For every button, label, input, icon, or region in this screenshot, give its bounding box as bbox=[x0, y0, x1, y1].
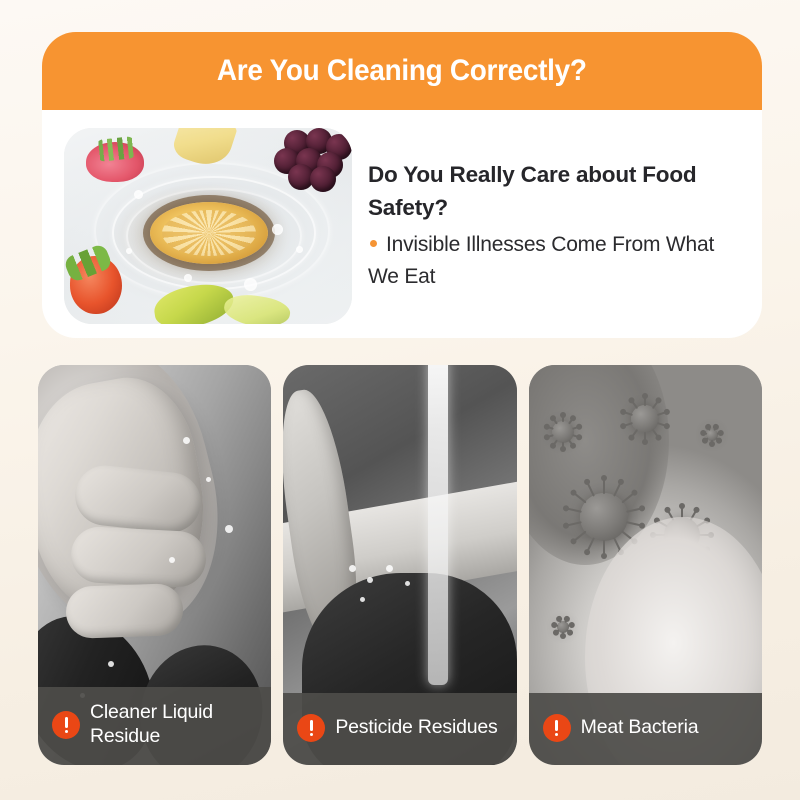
intro-card: Do You Really Care about Food Safety? In… bbox=[42, 110, 762, 338]
header-banner: Are You Cleaning Correctly? bbox=[42, 32, 762, 110]
bacteria-icon bbox=[631, 405, 659, 433]
water-stream-icon bbox=[428, 365, 448, 685]
bacteria-icon bbox=[673, 621, 683, 631]
bacteria-icon bbox=[706, 429, 718, 441]
card-caption-text: Cleaner Liquid Residue bbox=[90, 701, 259, 749]
card-caption-text: Pesticide Residues bbox=[335, 716, 497, 740]
lemon-slice-icon bbox=[150, 202, 268, 264]
bacteria-icon bbox=[631, 597, 655, 621]
poster-root: Are You Cleaning Correctly? bbox=[0, 0, 800, 800]
feature-card-cleaner-liquid-residue[interactable]: Cleaner Liquid Residue bbox=[38, 365, 271, 765]
finger-middle bbox=[69, 525, 207, 588]
feature-cards-row: Cleaner Liquid Residue Pesticide Residue… bbox=[38, 365, 762, 765]
strawberry-icon bbox=[86, 142, 144, 182]
alert-exclamation-icon bbox=[543, 714, 571, 742]
intro-food-photo bbox=[64, 128, 352, 324]
bacteria-icon bbox=[552, 421, 574, 443]
card-caption-bar: Cleaner Liquid Residue bbox=[38, 687, 271, 765]
alert-exclamation-icon bbox=[297, 714, 325, 742]
grapes-icon bbox=[254, 128, 352, 186]
page-title: Are You Cleaning Correctly? bbox=[217, 54, 587, 88]
bullet-dot-icon bbox=[370, 240, 377, 247]
finger-bottom bbox=[65, 583, 183, 639]
tomato-icon bbox=[70, 256, 122, 314]
bacteria-icon bbox=[580, 493, 628, 541]
bacteria-icon bbox=[557, 621, 569, 633]
card-caption-text: Meat Bacteria bbox=[581, 716, 699, 740]
intro-text-block: Do You Really Care about Food Safety? In… bbox=[368, 128, 740, 320]
bacteria-icon bbox=[692, 661, 724, 693]
card-caption-bar: Pesticide Residues bbox=[283, 693, 516, 765]
feature-card-pesticide-residues[interactable]: Pesticide Residues bbox=[283, 365, 516, 765]
bacteria-icon bbox=[664, 517, 700, 553]
alert-exclamation-icon bbox=[52, 711, 80, 739]
card-caption-bar: Meat Bacteria bbox=[529, 693, 762, 765]
intro-bullet-row: Invisible Illnesses Come From What We Ea… bbox=[368, 229, 740, 293]
feature-card-meat-bacteria[interactable]: Meat Bacteria bbox=[529, 365, 762, 765]
intro-bullet-text: Invisible Illnesses Come From What We Ea… bbox=[368, 233, 714, 288]
intro-heading: Do You Really Care about Food Safety? bbox=[368, 158, 740, 225]
